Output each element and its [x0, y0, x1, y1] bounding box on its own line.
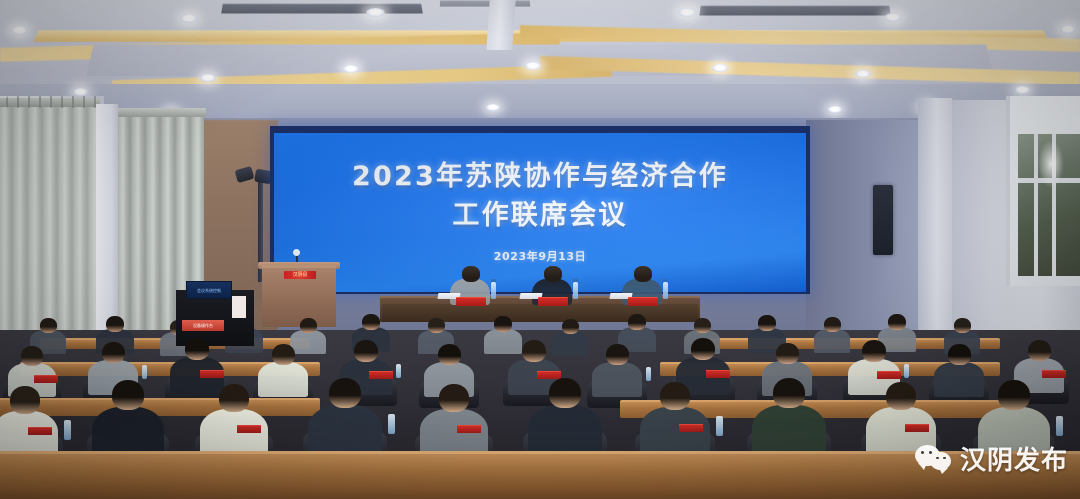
audience-nameplate	[706, 370, 730, 378]
water-bottle	[663, 282, 668, 299]
ceiling-downlight	[73, 88, 88, 96]
ceiling-downlight	[1060, 25, 1076, 34]
person-head	[106, 316, 124, 332]
person-head	[606, 344, 629, 365]
person-head	[219, 384, 249, 412]
bottle-cap	[573, 279, 578, 282]
audience-nameplate	[28, 427, 52, 435]
water-bottle	[573, 282, 578, 299]
person-head	[272, 344, 295, 365]
person-head	[886, 382, 916, 410]
audience-water-bottle	[716, 416, 723, 436]
person-head	[549, 378, 581, 408]
person-head	[102, 342, 125, 363]
ceiling-downlight	[200, 74, 216, 82]
person-head	[185, 338, 209, 360]
audience-water-bottle	[646, 367, 651, 381]
wall-speaker	[873, 185, 893, 255]
person-head	[300, 318, 317, 333]
ceiling-downlight	[180, 14, 198, 23]
audience-water-bottle	[396, 364, 401, 378]
person-head	[954, 318, 971, 333]
ceiling-beam	[486, 0, 515, 50]
official-head	[544, 266, 562, 282]
audience-water-bottle	[904, 364, 909, 378]
podium-microphone-tip	[293, 249, 300, 256]
bottle-cap	[491, 279, 496, 282]
person-head	[562, 319, 579, 334]
audience-water-bottle	[388, 414, 395, 434]
head-table-nameplate	[628, 297, 658, 306]
audience-water-bottle	[142, 365, 147, 379]
person-head	[21, 346, 43, 366]
screen-title-line1: 2023年苏陕协作与经济合作	[274, 157, 806, 196]
wechat-icon	[915, 444, 953, 474]
person-head	[628, 314, 646, 330]
person-head	[824, 317, 841, 332]
ceiling-downlight	[343, 65, 359, 73]
person-head	[888, 314, 906, 330]
person-head	[998, 380, 1030, 410]
person-head	[112, 380, 144, 410]
official-head	[462, 266, 480, 282]
ceiling-downlight	[525, 62, 541, 70]
ceiling-downlight	[366, 8, 385, 17]
person-head	[10, 386, 40, 414]
person-head	[862, 340, 886, 362]
blind-rail	[118, 108, 206, 117]
screen-title: 2023年苏陕协作与经济合作 工作联席会议	[274, 157, 806, 236]
official-head	[634, 266, 652, 282]
person-head	[948, 344, 971, 365]
person-head	[329, 378, 361, 408]
audience-nameplate	[1042, 370, 1066, 378]
ac-vent	[440, 0, 530, 6]
control-desk-monitor[interactable]: 会议系统控制	[186, 281, 232, 299]
person-head	[773, 378, 805, 408]
person-head	[660, 382, 690, 410]
person-head	[428, 318, 445, 333]
audience-nameplate	[457, 425, 481, 433]
person-head	[438, 344, 461, 365]
person-head	[691, 338, 715, 360]
blind-hooks	[6, 96, 98, 108]
person-head	[362, 314, 380, 330]
audience-nameplate	[877, 371, 901, 379]
person-body	[934, 362, 984, 397]
ceiling-downlight	[678, 8, 697, 17]
person-head	[1028, 340, 1051, 361]
audience-nameplate	[237, 425, 261, 433]
person-head	[439, 384, 469, 412]
audience-nameplate	[679, 424, 703, 432]
person-body	[814, 329, 850, 353]
audience-nameplate	[200, 370, 224, 378]
watermark-label: 汉阴发布	[960, 440, 1068, 477]
person-head	[522, 340, 546, 362]
screen-date: 2023年9月13日	[274, 248, 806, 264]
ceiling-downlight	[486, 104, 500, 111]
person-head	[776, 343, 799, 364]
person-head	[494, 316, 512, 332]
person-head	[758, 315, 776, 331]
ceiling-downlight	[712, 64, 728, 72]
water-bottle	[491, 282, 496, 299]
window-glare	[1038, 140, 1064, 188]
ceiling-downlight	[884, 13, 902, 22]
audience-person	[934, 344, 984, 400]
audience-water-bottle	[1056, 416, 1063, 436]
bottle-cap	[663, 279, 668, 282]
person-head	[694, 318, 711, 333]
audience-nameplate	[34, 375, 58, 383]
conference-photo: 2023年苏陕协作与经济合作 工作联席会议 2023年9月13日 汉阴县 会议系…	[0, 0, 1080, 499]
ceiling-downlight	[1015, 86, 1030, 94]
watermark: 汉阴发布	[915, 440, 1068, 477]
podium-emblem: 汉阴县	[284, 271, 316, 279]
ac-vent	[221, 4, 423, 14]
audience-nameplate	[905, 424, 929, 432]
ceiling-downlight	[828, 106, 842, 113]
audience-water-bottle	[64, 420, 71, 440]
person-head	[40, 318, 57, 333]
screen-title-line2: 工作联席会议	[274, 196, 806, 235]
ac-vent	[699, 6, 891, 16]
control-desk-red-sign: 设备操作台	[182, 320, 224, 331]
head-table-nameplate	[456, 297, 486, 306]
person-head	[354, 340, 378, 362]
audience-person	[814, 317, 850, 356]
ceiling-downlight	[855, 70, 871, 78]
control-desk-paper-sign	[232, 296, 246, 318]
ceiling-downlight	[11, 26, 28, 35]
head-table-nameplate	[538, 297, 568, 306]
